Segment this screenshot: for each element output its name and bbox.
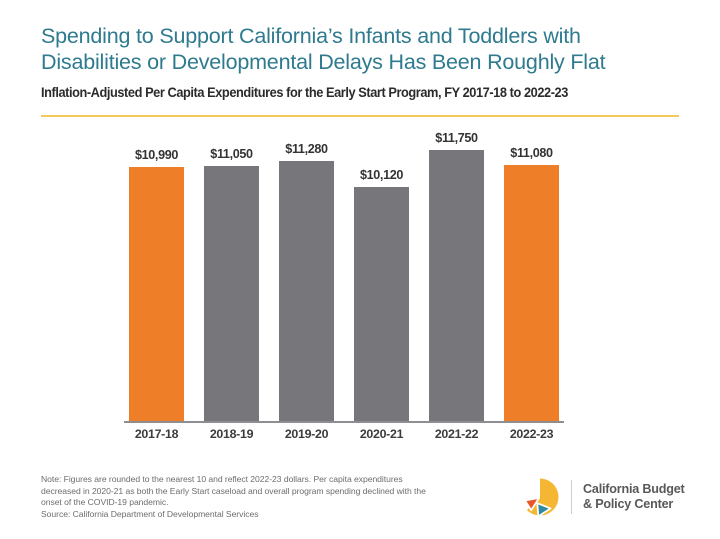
x-axis-label: 2020-21 — [354, 427, 409, 441]
x-axis-label: 2022-23 — [504, 427, 559, 441]
bar-value-label: $11,080 — [510, 146, 552, 160]
footnote-line-2: decreased in 2020-21 as both the Early S… — [41, 486, 501, 498]
chart-footnotes: Note: Figures are rounded to the nearest… — [41, 474, 501, 520]
bar-rect[interactable] — [354, 187, 409, 422]
bar-rect[interactable] — [504, 165, 559, 422]
logo-divider — [571, 480, 572, 514]
bar-group[interactable]: $11,080 — [504, 130, 559, 422]
footnote-source: Source: California Department of Develop… — [41, 509, 501, 521]
x-axis-label: 2019-20 — [279, 427, 334, 441]
bar-group[interactable]: $10,120 — [354, 130, 409, 422]
x-axis-labels: 2017-182018-192019-202020-212021-222022-… — [129, 427, 559, 441]
page-title: Spending to Support California’s Infants… — [41, 24, 679, 75]
bar-rect[interactable] — [204, 166, 259, 422]
bar-group[interactable]: $11,750 — [429, 130, 484, 422]
x-axis-line — [124, 421, 564, 423]
footnote-line-3: onset of the COVID-19 pandemic. — [41, 497, 501, 509]
bar-group[interactable]: $11,050 — [204, 130, 259, 422]
bar-group[interactable]: $11,280 — [279, 130, 334, 422]
logo-wordmark: California Budget & Policy Center — [583, 482, 685, 513]
organization-logo: California Budget & Policy Center — [518, 473, 704, 521]
chart-header: Spending to Support California’s Infants… — [41, 24, 679, 101]
bar-group[interactable]: $10,990 — [129, 130, 184, 422]
chart-page: Spending to Support California’s Infants… — [0, 0, 720, 539]
x-axis-label: 2017-18 — [129, 427, 184, 441]
chart-plot-area: $10,990$11,050$11,280$10,120$11,750$11,0… — [40, 130, 680, 430]
chart-subtitle: Inflation-Adjusted Per Capita Expenditur… — [41, 85, 650, 101]
x-axis-label: 2021-22 — [429, 427, 484, 441]
bar-value-label: $11,050 — [210, 147, 252, 161]
bar-series: $10,990$11,050$11,280$10,120$11,750$11,0… — [129, 130, 559, 422]
bar-rect[interactable] — [129, 167, 184, 422]
bar-value-label: $11,750 — [435, 131, 477, 145]
bar-rect[interactable] — [429, 150, 484, 422]
bar-value-label: $11,280 — [285, 142, 327, 156]
bar-rect[interactable] — [279, 161, 334, 422]
x-axis-label: 2018-19 — [204, 427, 259, 441]
california-budget-policy-center-logo-icon — [518, 475, 562, 519]
bar-value-label: $10,120 — [360, 168, 403, 182]
footnote-line-1: Note: Figures are rounded to the nearest… — [41, 474, 501, 486]
title-divider — [41, 115, 679, 117]
bar-value-label: $10,990 — [135, 148, 178, 162]
